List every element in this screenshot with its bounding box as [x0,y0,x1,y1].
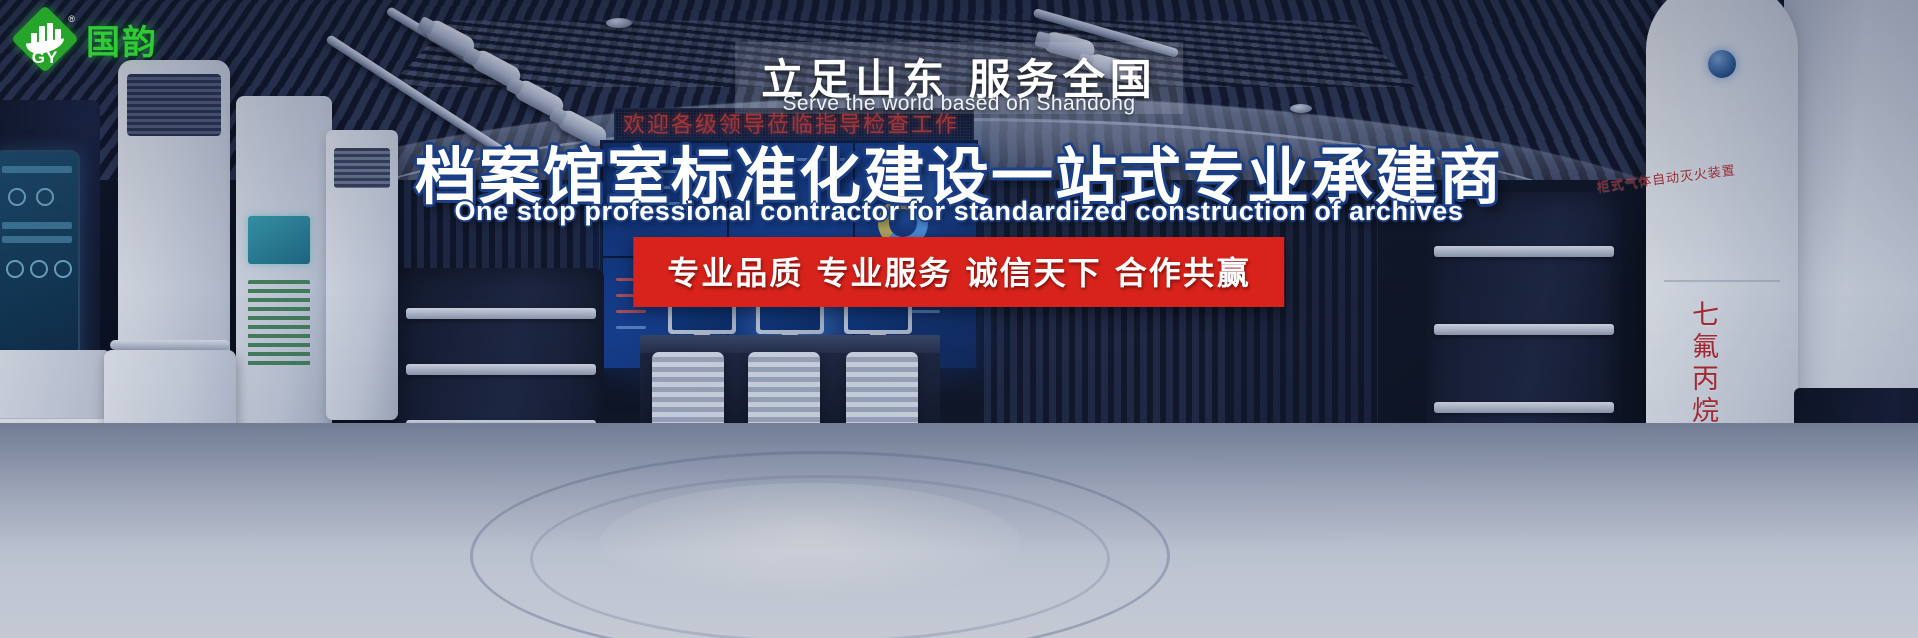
logo-initials: GY [14,48,76,68]
screen-gauge-icon [8,188,26,206]
video-wall-alert-bar [616,310,646,313]
floor-inlay-highlight [600,483,1020,603]
screen-gauge-icon [30,260,48,278]
shelf-board [1434,402,1614,413]
shelf-board [1434,246,1614,257]
screen-row [2,236,72,243]
video-wall-bar [616,326,646,329]
shelf-board [406,364,596,375]
registered-mark-icon: ® [68,14,75,24]
office-chair [846,352,918,432]
screen-gauge-icon [54,260,72,278]
smoke-detector-icon [1290,104,1312,113]
air-conditioner-unit [326,130,398,420]
office-chair [748,352,820,432]
smoke-detector-icon [606,18,632,28]
cabinet-indicator-icon [1708,50,1736,78]
floor [0,423,1918,638]
brand-logo[interactable]: GY ® 国韵 [14,8,158,70]
slogan-banner: 专业品质 专业服务 诚信天下 合作共赢 [633,237,1284,307]
cabinet-seam [1664,280,1780,282]
shelf-board [406,308,596,319]
gy-building-diamond-logo-icon: GY ® [14,8,76,70]
operator-desk-top [640,335,940,353]
tower-vent-grille [127,74,221,136]
hero-banner: 欢迎各级领导莅临指导检查工作 [0,0,1918,638]
hero-kicker-english: Serve the world based on Shandong [783,92,1136,116]
shelf-board [1434,324,1614,335]
slogan-text: 专业品质 专业服务 诚信天下 合作共赢 [667,248,1250,294]
screen-gauge-icon [36,188,54,206]
tower-led-strip [248,280,310,366]
trolley-handle [110,340,230,350]
ac-vent [334,148,390,188]
office-chair [652,352,724,432]
tower-display [248,216,310,264]
hero-subline-english: One stop professional contractor for sta… [454,196,1463,227]
screen-row [2,166,72,173]
agent-vertical-label: 七氟丙烷 [1682,300,1722,428]
brand-name: 国韵 [86,15,158,64]
screen-row [2,222,72,229]
screen-gauge-icon [6,260,24,278]
